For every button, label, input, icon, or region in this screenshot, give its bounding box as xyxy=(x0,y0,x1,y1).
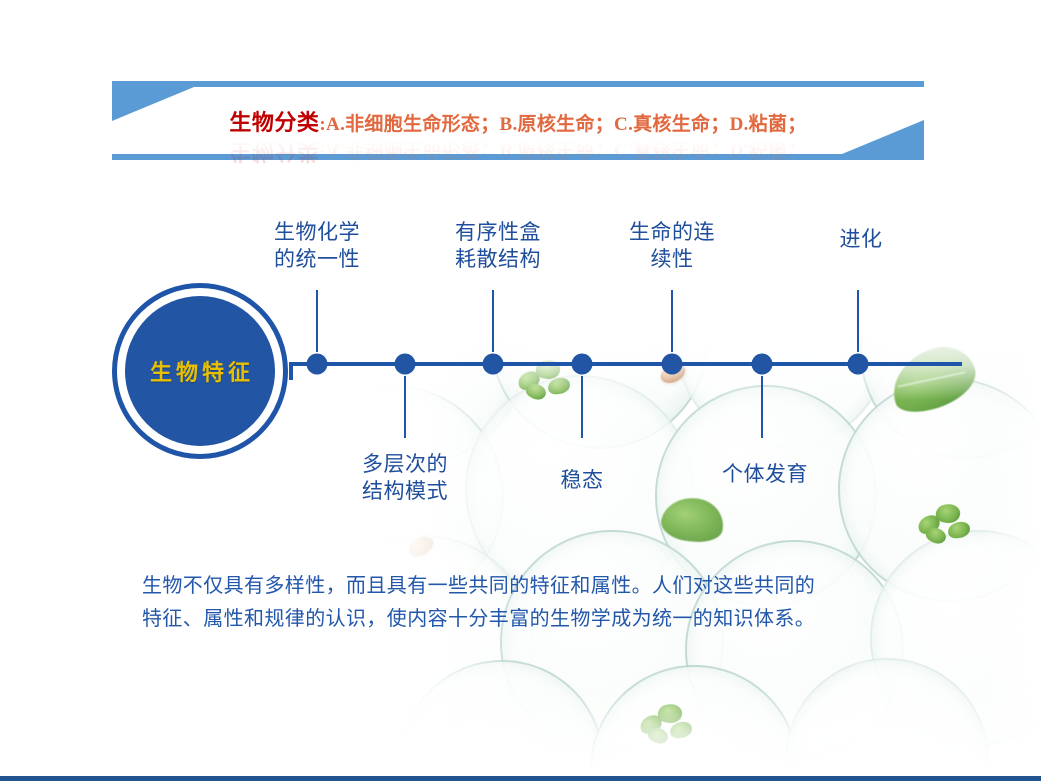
hub-disc: 生物特征 xyxy=(125,296,275,446)
banner-title-reflection: 生物分类:A.非细胞生命形态；B.原核生命；C.真核生命；D.粘菌； xyxy=(229,137,806,169)
timeline-connector-line xyxy=(316,290,318,352)
timeline-node-dot[interactable] xyxy=(848,354,869,375)
petri-dish xyxy=(490,330,709,449)
photo-fade-r xyxy=(981,330,1041,776)
timeline-node-label: 稳态 xyxy=(561,467,604,494)
petri-dish xyxy=(370,535,534,754)
banner-title-wrap: 生物分类:A.非细胞生命形态；B.原核生命；C.真核生命；D.粘菌； 生物分类:… xyxy=(229,105,806,137)
petri-dish xyxy=(870,530,1041,746)
leaf-specimen xyxy=(658,492,728,548)
leaf-specimen xyxy=(883,338,983,420)
timeline-connector-line xyxy=(671,290,673,352)
timeline-axis-start-tick xyxy=(289,362,293,380)
petri-dish xyxy=(838,378,1041,602)
petri-dish xyxy=(370,330,524,464)
timeline-node-dot[interactable] xyxy=(572,354,593,375)
timeline-node-dot[interactable] xyxy=(307,354,328,375)
banner-title-keyword: 生物分类 xyxy=(229,110,319,135)
timeline-node-label: 多层次的 结构模式 xyxy=(362,451,448,506)
petri-dish xyxy=(785,658,989,776)
timeline-node-label: 生命的连 续性 xyxy=(629,219,715,274)
petri-dish xyxy=(500,530,724,754)
hub-label: 生物特征 xyxy=(146,355,254,387)
petri-dish xyxy=(590,665,799,776)
photo-fade-t xyxy=(370,330,1041,400)
slide-canvas: 生物分类:A.非细胞生命形态；B.原核生命；C.真核生命；D.粘菌； 生物分类:… xyxy=(0,0,1041,781)
timeline-node-label: 生物化学 的统一性 xyxy=(274,219,360,274)
timeline-node-label: 进化 xyxy=(840,226,883,253)
summary-paragraph: 生物不仅具有多样性，而且具有一些共同的特征和属性。人们对这些共同的 特征、属性和… xyxy=(142,570,932,636)
hub-circle[interactable]: 生物特征 xyxy=(112,283,288,459)
banner-title-body: A.非细胞生命形态；B.原核生命；C.真核生命；D.粘菌； xyxy=(326,114,807,135)
petri-dish xyxy=(860,330,1041,459)
background-photo xyxy=(370,330,1041,776)
title-banner: 生物分类:A.非细胞生命形态；B.原核生命；C.真核生命；D.粘菌； 生物分类:… xyxy=(112,81,924,160)
timeline-node-label: 个体发育 xyxy=(722,461,808,488)
sprout-specimen xyxy=(918,502,976,548)
banner-title-row: 生物分类:A.非细胞生命形态；B.原核生命；C.真核生命；D.粘菌； 生物分类:… xyxy=(112,81,924,160)
timeline-node-dot[interactable] xyxy=(752,354,773,375)
photo-fade-b xyxy=(370,686,1041,776)
photo-fade-l xyxy=(370,330,520,776)
seed-specimen xyxy=(405,533,436,561)
timeline-node-dot[interactable] xyxy=(483,354,504,375)
sprout-specimen xyxy=(640,702,698,748)
timeline-node-label: 有序性盒 耗散结构 xyxy=(455,219,541,274)
timeline-connector-line xyxy=(761,376,763,438)
timeline-node-dot[interactable] xyxy=(662,354,683,375)
sprout-specimen xyxy=(518,358,576,404)
timeline-node-dot[interactable] xyxy=(395,354,416,375)
timeline-connector-line xyxy=(404,376,406,438)
petri-dish xyxy=(400,660,604,776)
timeline-connector-line xyxy=(581,376,583,438)
summary-line-2: 特征、属性和规律的认识，使内容十分丰富的生物学成为统一的知识体系。 xyxy=(142,603,932,636)
summary-line-1: 生物不仅具有多样性，而且具有一些共同的特征和属性。人们对这些共同的 xyxy=(142,570,932,603)
petri-dish xyxy=(675,330,889,449)
timeline-connector-line xyxy=(857,290,859,352)
banner-title: 生物分类:A.非细胞生命形态；B.原核生命；C.真核生命；D.粘菌； xyxy=(229,117,806,134)
timeline-connector-line xyxy=(492,290,494,352)
